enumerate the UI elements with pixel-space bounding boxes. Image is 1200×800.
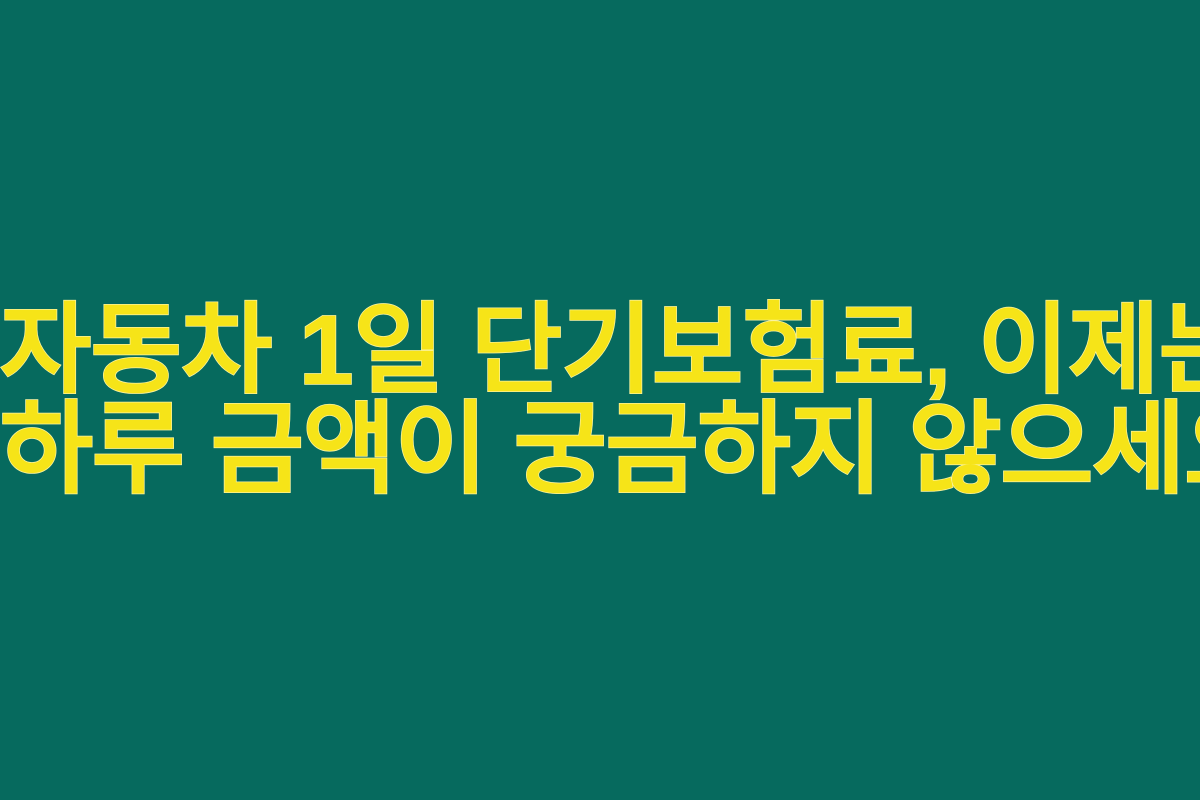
promo-banner: 자동차 1일 단기보험료, 이제는 하루 금액이 궁금하지 않으세요? [0, 0, 1200, 800]
headline-line-2: 하루 금액이 궁금하지 않으세요? [0, 400, 1200, 500]
headline: 자동차 1일 단기보험료, 이제는 하루 금액이 궁금하지 않으세요? [0, 300, 1200, 500]
headline-line-1: 자동차 1일 단기보험료, 이제는 [0, 300, 1200, 400]
